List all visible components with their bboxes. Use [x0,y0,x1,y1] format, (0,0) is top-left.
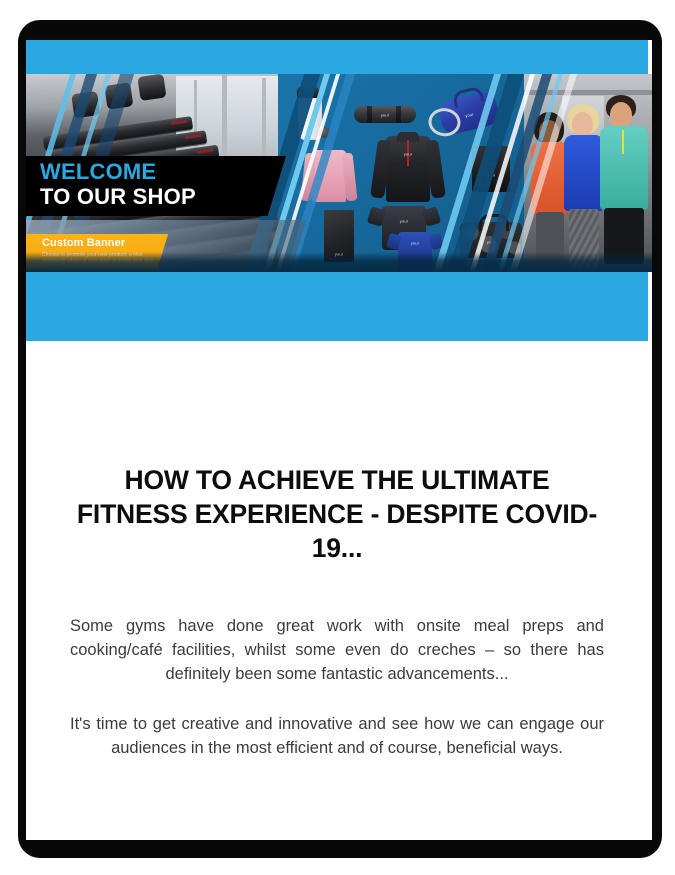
foam-roller-mat: your [354,106,416,123]
gym-members-group-photo [524,74,652,272]
welcome-heading: WELCOME TO OUR SHOP [40,160,290,209]
page-title: HOW TO ACHIEVE THE ULTIMATE FITNESS EXPE… [26,341,648,565]
welcome-line-1: WELCOME [40,160,290,184]
ceiling-rail [524,90,652,95]
black-training-shorts: your [472,146,510,192]
shop-welcome-banner[interactable]: your your your your your your your [26,74,652,272]
welcome-line-2: TO OUR SHOP [40,184,290,209]
device-screen: your your your your your your your [26,40,652,840]
blue-duffel-bag: your [440,96,498,130]
custom-banner-title: Custom Banner [42,237,168,250]
article-paragraph: Some gyms have done great work with onsi… [26,565,648,686]
black-quarter-zip-jacket: your [386,136,430,202]
banner-bottom-fade [26,252,652,272]
protein-shaker-bottle: your [298,96,322,140]
pink-crop-top [312,150,346,202]
article-paragraph: It's time to get creative and innovative… [26,686,648,760]
merchandise-product-grid: your your your your your your your [278,74,538,272]
article-body: HOW TO ACHIEVE THE ULTIMATE FITNESS EXPE… [26,341,648,840]
